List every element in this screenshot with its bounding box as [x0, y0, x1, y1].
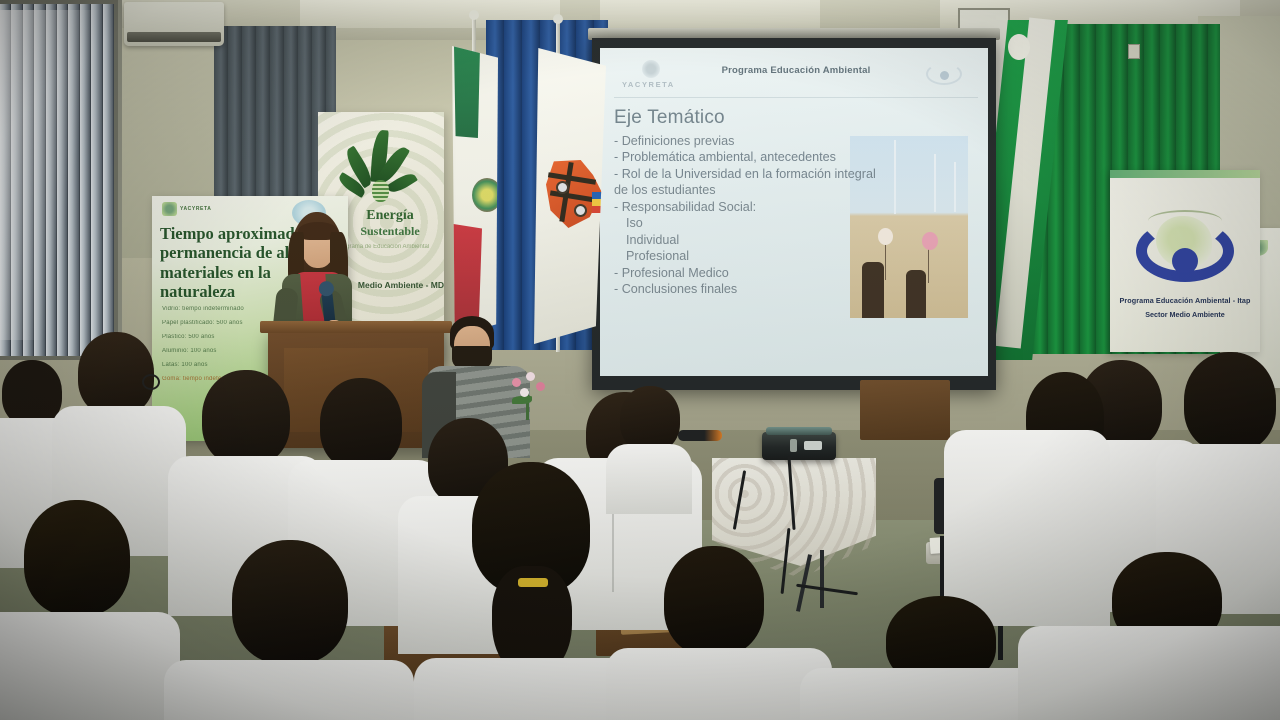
slide-sub-bullet: Individual — [614, 232, 829, 248]
ceiling-light-strip — [600, 0, 820, 28]
program-logo-icon — [922, 58, 966, 90]
sash-knot — [1008, 34, 1030, 60]
slide-bullet: - Responsabilidad Social: — [614, 199, 829, 215]
leaf-plant-icon — [346, 130, 412, 206]
projection-screen: YACYRETA Programa Educación Ambiental Ej… — [592, 38, 996, 390]
slide-bullet-list: - Definiciones previas - Problemática am… — [614, 133, 829, 298]
audience-member — [178, 540, 398, 720]
slide-bullet: de los estudiantes — [614, 182, 829, 198]
audience-member — [816, 596, 1036, 720]
window-with-blinds — [0, 0, 122, 360]
screen-surface: YACYRETA Programa Educación Ambiental Ej… — [600, 48, 988, 376]
video-projector — [762, 432, 836, 460]
banner-right-line-1: Programa Educación Ambiental - Itap — [1110, 296, 1260, 305]
banner-left-logo-text: YACYRETA — [180, 206, 211, 212]
window-glare — [0, 10, 116, 340]
classroom-photo-scene: YACYRETA Programa Educación Ambiental Ej… — [0, 0, 1280, 720]
audience-member — [0, 500, 160, 720]
municipal-flag — [534, 48, 606, 344]
slide-header: YACYRETA Programa Educación Ambiental — [614, 58, 978, 98]
slide-bullet: - Profesional Medico — [614, 265, 829, 281]
presentation-slide: YACYRETA Programa Educación Ambiental Ej… — [600, 48, 988, 376]
audience-member — [1032, 560, 1280, 720]
audience-member — [616, 540, 816, 720]
yacyreta-mark-icon — [162, 202, 177, 216]
banner-left-logo: YACYRETA — [162, 202, 204, 218]
yacyreta-logo-text: YACYRETA — [622, 80, 675, 89]
projector-lens-icon — [804, 441, 822, 450]
paraguay-flag — [452, 46, 498, 336]
slide-bullet: - Problemática ambiental, antecedentes — [614, 149, 889, 165]
slide-heading: Eje Temático — [614, 107, 978, 129]
slide-bullet: - Rol de la Universidad en la formación … — [614, 166, 889, 182]
side-table — [860, 380, 950, 440]
air-conditioner-unit — [124, 2, 224, 46]
slide-bullet: - Definiciones previas — [614, 133, 829, 149]
banner-right-line-2: Sector Medio Ambiente — [1110, 310, 1260, 319]
slide-sub-bullet: Profesional — [614, 248, 829, 264]
slide-sub-bullet: Iso — [614, 215, 829, 231]
globe-logo-icon — [1136, 206, 1234, 288]
ac-vent-icon — [127, 32, 221, 42]
slide-bullet: - Conclusiones finales — [614, 281, 829, 297]
wall-outlet — [1128, 44, 1140, 59]
banner-programa-educacion-ambiental: Programa Educación Ambiental - Itap Sect… — [1110, 170, 1260, 352]
